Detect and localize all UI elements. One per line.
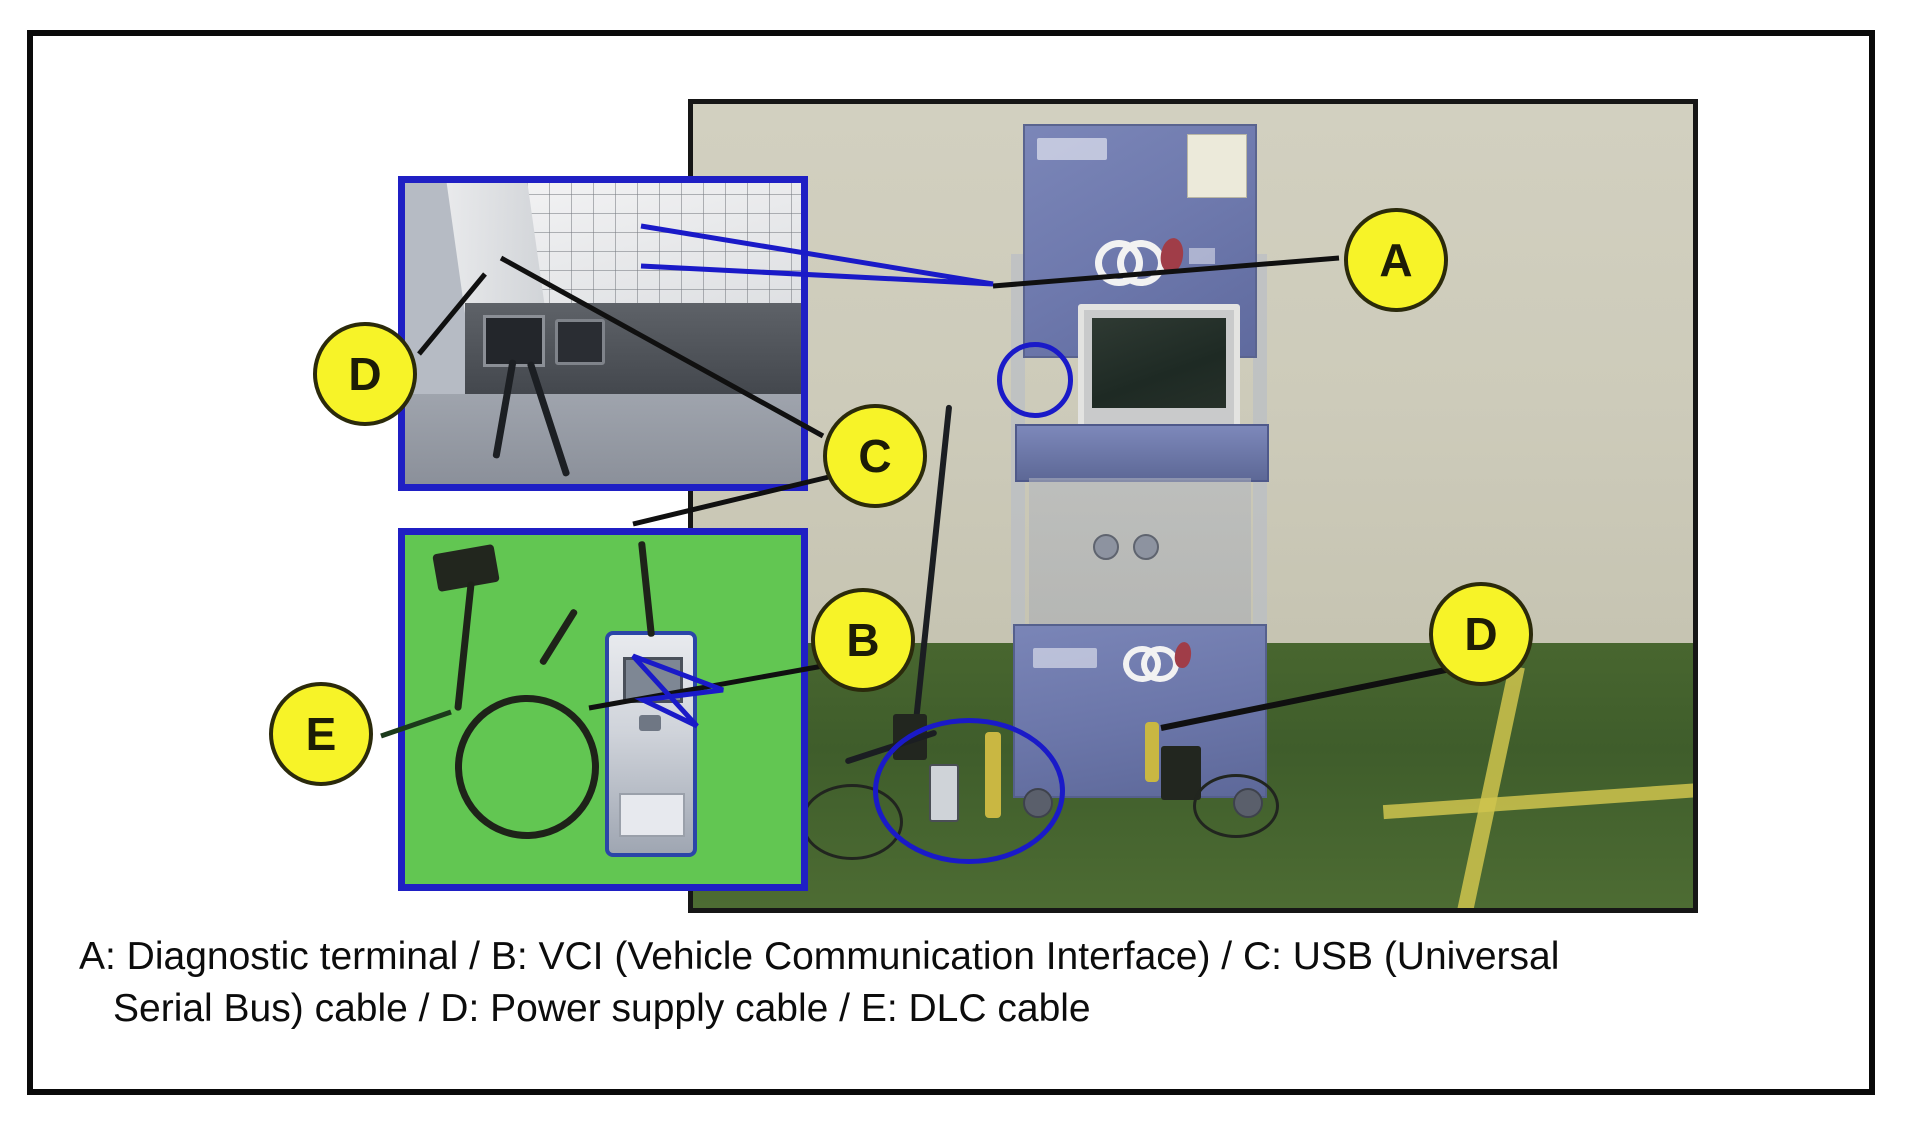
figure-caption: A: Diagnostic terminal / B: VCI (Vehicle… — [79, 931, 1839, 1035]
gds-logo — [1095, 236, 1215, 276]
highlight-ellipse-laptop-port — [997, 342, 1073, 418]
hyundai-wordmark — [1033, 648, 1097, 668]
vci-button — [639, 715, 661, 731]
terminal-display-surface — [1092, 318, 1226, 408]
yellow-cable — [1145, 722, 1159, 782]
power-cable-coil — [1193, 774, 1279, 838]
power-supply-brick — [1161, 746, 1201, 800]
caption-line-1: A: Diagnostic terminal / B: VCI (Vehicle… — [79, 935, 1559, 978]
dlc-cable-coil — [435, 675, 620, 860]
figure-frame: A D C B D E A: Diagnostic terminal / B: … — [27, 30, 1875, 1095]
main-photograph — [688, 99, 1698, 913]
vci-module — [605, 631, 697, 857]
gds-logo-ring — [1141, 646, 1179, 682]
callout-badge-b[interactable]: B — [811, 588, 915, 692]
inset-dlc-and-vci — [398, 528, 808, 891]
dlc-cable-lead — [454, 581, 475, 711]
vci-dlc-lead — [539, 608, 579, 666]
hyundai-wordmark — [1037, 138, 1107, 160]
vci-connector-base — [619, 793, 685, 837]
gds-logo — [1123, 642, 1219, 672]
gds-logo-text — [1189, 248, 1215, 264]
vci-display — [623, 657, 683, 703]
desk-surface — [405, 394, 801, 484]
callout-badge-e[interactable]: E — [269, 682, 373, 786]
callout-badge-a[interactable]: A — [1344, 208, 1448, 312]
cart-dial — [1093, 534, 1119, 560]
gds-logo-flame — [1159, 237, 1186, 274]
highlight-ellipse-floor-accessories — [873, 718, 1065, 864]
callout-badge-c[interactable]: C — [823, 404, 927, 508]
callout-badge-d-right[interactable]: D — [1429, 582, 1533, 686]
cart-dial — [1133, 534, 1159, 560]
keyboard-shelf — [1015, 424, 1269, 482]
power-port — [555, 319, 605, 365]
gds-logo-ring — [1117, 240, 1165, 286]
callout-badge-d-top[interactable]: D — [313, 322, 417, 426]
terminal-display — [1078, 304, 1240, 436]
spec-label — [1187, 134, 1247, 198]
vci-usb-lead — [638, 541, 655, 637]
caption-line-2: Serial Bus) cable / D: Power supply cabl… — [79, 983, 1839, 1035]
gds-logo-flame — [1173, 641, 1192, 669]
inset-laptop-ports — [398, 176, 808, 491]
dlc-connector — [432, 544, 500, 592]
